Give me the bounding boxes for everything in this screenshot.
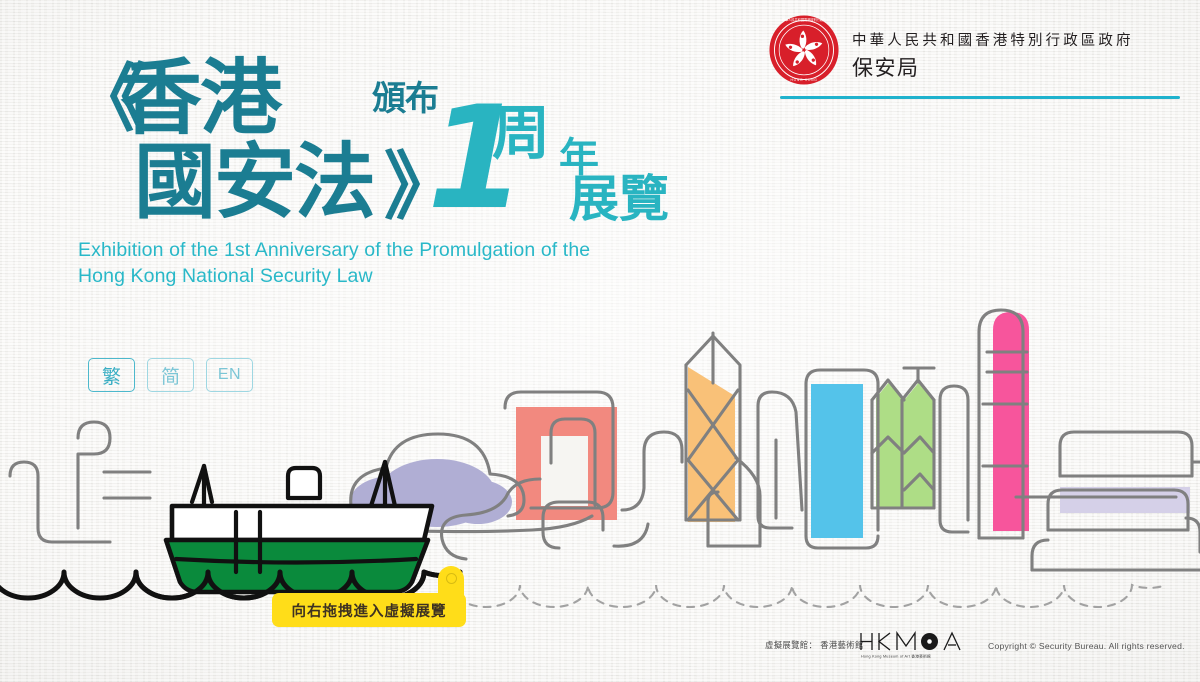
title-hong-kong: 香港 xyxy=(120,58,280,140)
enter-virtual-exhibition-cta[interactable]: 向右拖拽進入虛擬展覽 xyxy=(272,593,466,627)
venue-credit: 虛擬展覽館： 香港藝術館 xyxy=(765,639,864,651)
language-switcher: 繁 简 EN xyxy=(88,358,253,392)
hksar-bauhinia-emblem-icon: · 中華人民共和國香港特別行政區 · HONG KONG xyxy=(768,14,840,86)
exhibition-title-block: 《 香港 頒布 國安法 》 1 周 年 展覽 xyxy=(72,56,712,228)
lang-button-simplified-chinese[interactable]: 简 xyxy=(147,358,194,392)
lang-button-traditional-chinese[interactable]: 繁 xyxy=(88,358,135,392)
cta-label: 向右拖拽進入虛擬展覽 xyxy=(292,600,447,621)
title-national-security-law: 國安法 xyxy=(134,142,374,224)
government-org-name: 中華人民共和國香港特別行政區政府 xyxy=(852,34,1134,49)
svg-text:· 中華人民共和國香港特別行政區 ·: · 中華人民共和國香港特別行政區 · xyxy=(780,17,828,22)
title-exhibition-char: 展覽 xyxy=(569,174,669,224)
government-bureau-name: 保安局 xyxy=(852,58,1134,79)
copyright-notice: Copyright © Security Bureau. All rights … xyxy=(988,641,1185,651)
hkmoa-subtitle: Hong Kong Museum of Art 香港藝術館 xyxy=(861,654,931,659)
hkmoa-logo-icon: Hong Kong Museum of Art 香港藝術館 xyxy=(858,630,962,660)
lang-button-english[interactable]: EN xyxy=(206,358,253,392)
header-divider-rule xyxy=(780,96,1180,99)
page-footer: 虛擬展覽館： 香港藝術館 Hong Kong Museum of Art 香港藝… xyxy=(0,630,1200,660)
title-anniversary-char: 周 xyxy=(492,104,550,162)
government-header: · 中華人民共和國香港特別行政區 · HONG KONG 中華人民共和國香港特別… xyxy=(768,12,1188,108)
exhibition-title-english: Exhibition of the 1st Anniversary of the… xyxy=(78,238,638,289)
svg-text:HONG KONG: HONG KONG xyxy=(791,78,818,82)
